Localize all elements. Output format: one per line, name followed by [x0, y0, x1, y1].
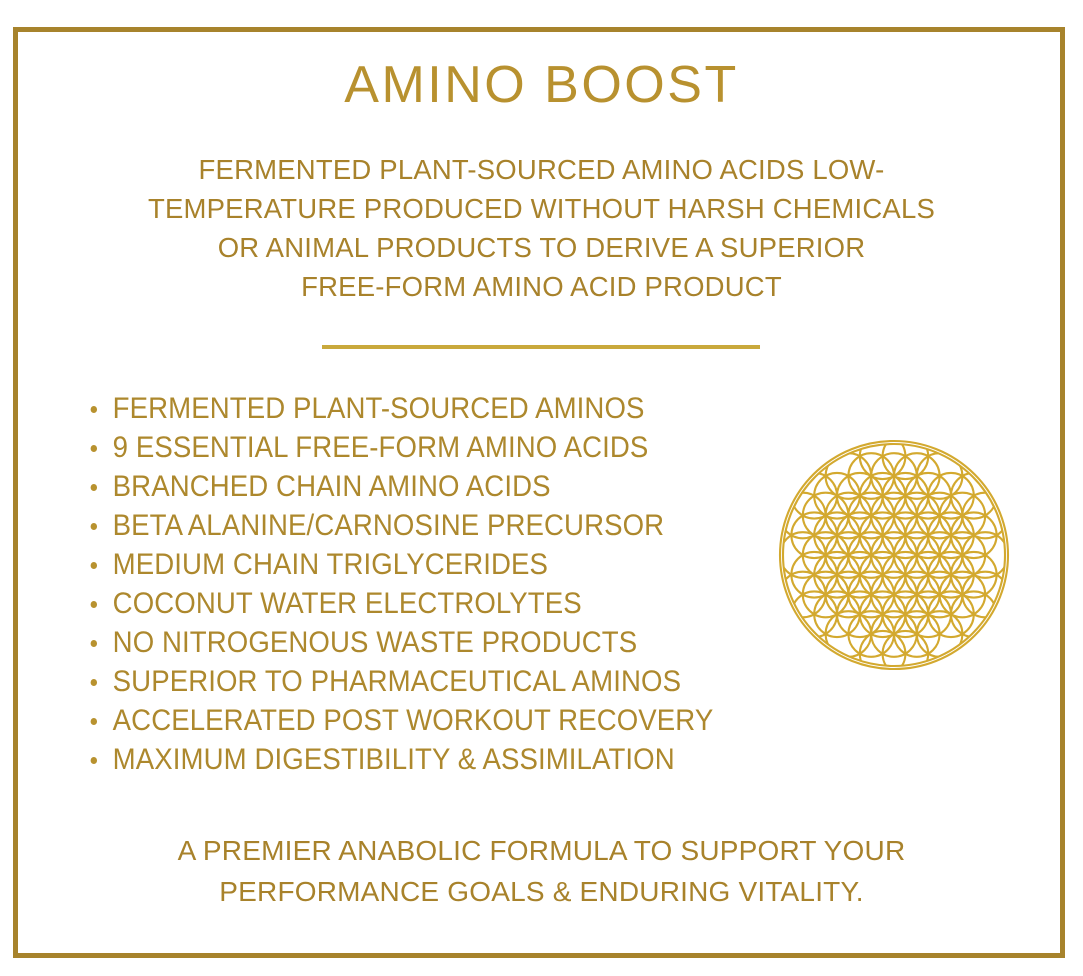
product-description: FERMENTED PLANT-SOURCED AMINO ACIDS LOW-… [60, 150, 1023, 306]
description-line: TEMPERATURE PRODUCED WITHOUT HARSH CHEMI… [60, 189, 1023, 228]
list-item-label: BETA ALANINE/CARNOSINE PRECURSOR [113, 509, 664, 542]
bullet-dot-icon [91, 562, 97, 569]
bullet-dot-icon [91, 523, 97, 530]
list-item: NO NITROGENOUS WASTE PRODUCTS [86, 623, 730, 662]
list-item-label: SUPERIOR TO PHARMACEUTICAL AMINOS [113, 665, 681, 698]
list-item-label: FERMENTED PLANT-SOURCED AMINOS [113, 392, 645, 425]
list-item-label: BRANCHED CHAIN AMINO ACIDS [113, 470, 551, 503]
list-item-label: MAXIMUM DIGESTIBILITY & ASSIMILATION [113, 743, 675, 776]
list-item: MAXIMUM DIGESTIBILITY & ASSIMILATION [86, 740, 730, 779]
list-item: COCONUT WATER ELECTROLYTES [86, 584, 730, 623]
list-item-label: 9 ESSENTIAL FREE-FORM AMINO ACIDS [113, 431, 649, 464]
description-line: FERMENTED PLANT-SOURCED AMINO ACIDS LOW- [60, 150, 1023, 189]
bullet-dot-icon [91, 718, 97, 725]
description-line: OR ANIMAL PRODUCTS TO DERIVE A SUPERIOR [60, 228, 1023, 267]
bullet-dot-icon [91, 757, 97, 764]
closing-line: PERFORMANCE GOALS & ENDURING VITALITY. [60, 871, 1023, 912]
closing-line: A PREMIER ANABOLIC FORMULA TO SUPPORT YO… [60, 830, 1023, 871]
list-item: BETA ALANINE/CARNOSINE PRECURSOR [86, 506, 730, 545]
page-title: AMINO BOOST [0, 56, 1083, 114]
list-item: SUPERIOR TO PHARMACEUTICAL AMINOS [86, 662, 730, 701]
section-divider [322, 345, 760, 349]
list-item-label: NO NITROGENOUS WASTE PRODUCTS [113, 626, 638, 659]
list-item-label: COCONUT WATER ELECTROLYTES [113, 587, 582, 620]
list-item: 9 ESSENTIAL FREE-FORM AMINO ACIDS [86, 428, 730, 467]
bullet-dot-icon [91, 679, 97, 686]
list-item: MEDIUM CHAIN TRIGLYCERIDES [86, 545, 730, 584]
list-item: BRANCHED CHAIN AMINO ACIDS [86, 467, 730, 506]
bullet-dot-icon [91, 601, 97, 608]
description-line: FREE-FORM AMINO ACID PRODUCT [60, 267, 1023, 306]
bullet-dot-icon [91, 484, 97, 491]
flower-of-life-icon [776, 437, 1012, 673]
feature-list: FERMENTED PLANT-SOURCED AMINOS 9 ESSENTI… [86, 389, 786, 779]
closing-statement: A PREMIER ANABOLIC FORMULA TO SUPPORT YO… [60, 830, 1023, 912]
bullet-dot-icon [91, 445, 97, 452]
bullet-dot-icon [91, 640, 97, 647]
bullet-dot-icon [91, 406, 97, 413]
list-item: ACCELERATED POST WORKOUT RECOVERY [86, 701, 730, 740]
list-item-label: ACCELERATED POST WORKOUT RECOVERY [113, 704, 714, 737]
list-item: FERMENTED PLANT-SOURCED AMINOS [86, 389, 730, 428]
product-label: AMINO BOOST FERMENTED PLANT-SOURCED AMIN… [0, 0, 1083, 976]
list-item-label: MEDIUM CHAIN TRIGLYCERIDES [113, 548, 548, 581]
